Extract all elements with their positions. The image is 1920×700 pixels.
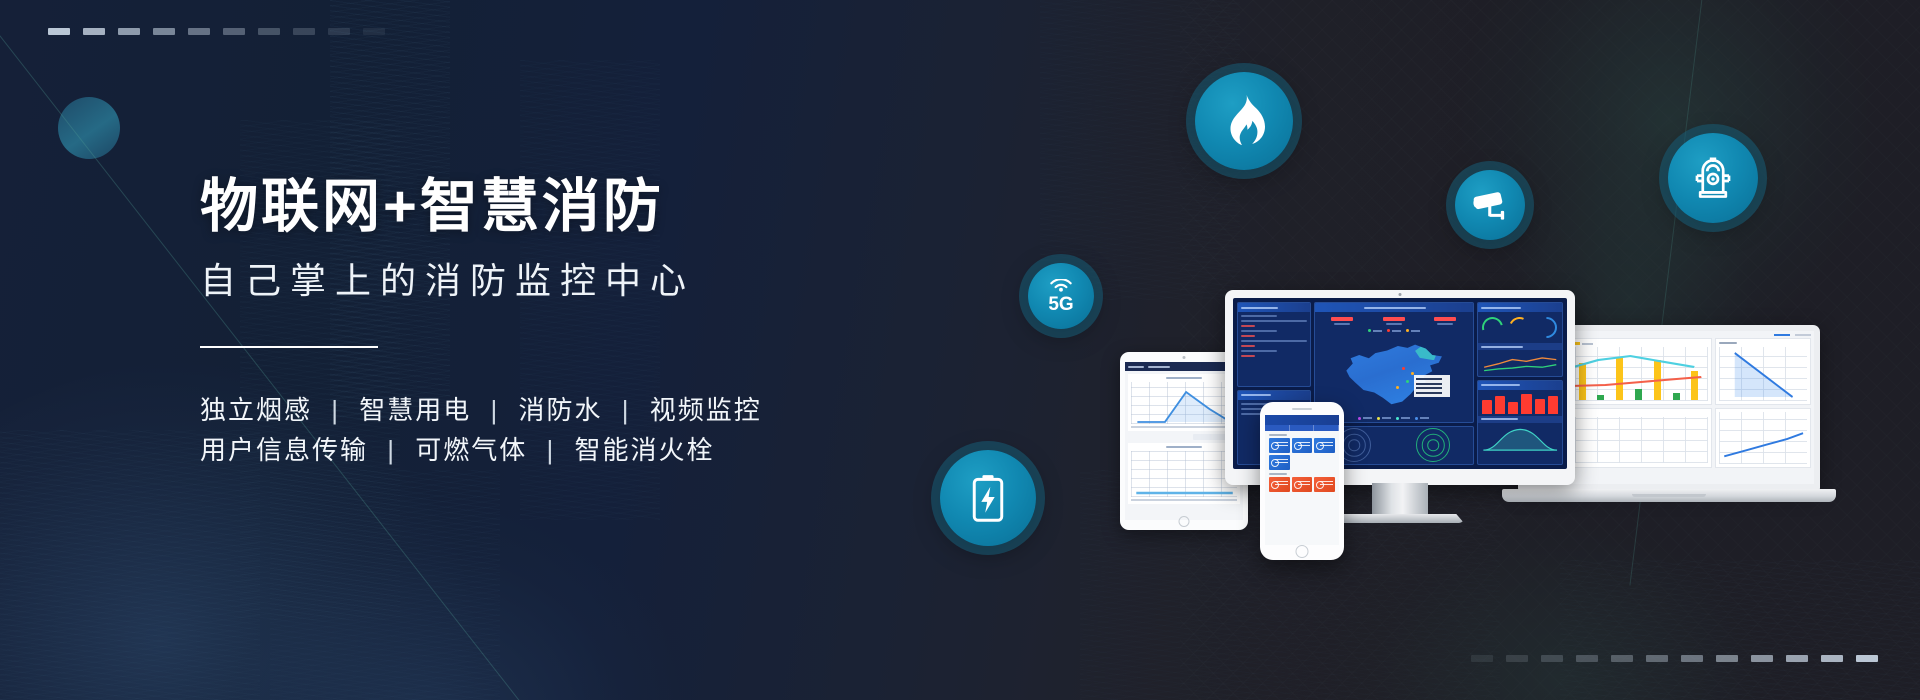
5g-label: 5G — [1048, 295, 1073, 314]
side-chart-card — [1715, 408, 1811, 468]
hydrant-icon-badge — [1668, 133, 1758, 223]
panel-header — [1478, 381, 1562, 390]
kpi-item — [1331, 317, 1353, 325]
page-title: 物联网+智慧消防 — [200, 175, 762, 239]
battery-icon-badge — [940, 450, 1036, 546]
gauge-panel — [1477, 302, 1563, 377]
gauge — [1532, 313, 1562, 343]
line-chart — [1131, 382, 1237, 424]
chart-axis — [1131, 426, 1237, 428]
area-chart-card — [1715, 338, 1811, 405]
feature-line: 独立烟感 | 智慧用电 | 消防水 | 视频监控 — [200, 390, 762, 430]
feature-item: 独立烟感 — [200, 395, 312, 425]
panel-header — [1238, 391, 1310, 400]
map-legend — [1315, 327, 1473, 334]
menu-tile[interactable] — [1314, 477, 1335, 492]
dash-row-top-left — [48, 28, 385, 35]
decorative-circle — [58, 97, 120, 159]
sub-header — [1478, 416, 1562, 423]
kpi-item — [1383, 317, 1405, 325]
feature-item: 智慧用电 — [359, 395, 471, 425]
page-subtitle: 自己掌上的消防监控中心 — [200, 259, 762, 302]
kpi-row — [1315, 312, 1473, 327]
chart-caption — [1166, 446, 1202, 448]
panel-header — [1238, 303, 1310, 312]
fire-hydrant-icon — [1691, 154, 1735, 202]
panel-header — [1478, 303, 1562, 312]
feature-list: 独立烟感 | 智慧用电 | 消防水 | 视频监控 用户信息传输 | 可燃气体 |… — [200, 390, 762, 471]
menu-tile[interactable] — [1269, 438, 1290, 453]
feature-separator: | — [321, 395, 350, 425]
kpi-item — [1434, 317, 1456, 325]
phone-section-orange — [1265, 470, 1339, 492]
tile-grid-orange — [1267, 477, 1337, 492]
phone-section-blue — [1265, 431, 1339, 470]
flame-icon-badge — [1195, 72, 1293, 170]
feature-separator: | — [537, 435, 566, 465]
tablet-chart-card — [1128, 374, 1240, 431]
phone-body — [1260, 402, 1344, 560]
security-camera-icon — [1472, 189, 1508, 221]
tablet-chart-card-2 — [1128, 443, 1240, 504]
menu-tile[interactable] — [1269, 477, 1290, 492]
hero-banner: 物联网+智慧消防 自己掌上的消防监控中心 独立烟感 | 智慧用电 | 消防水 |… — [0, 0, 1920, 700]
section-label — [1269, 473, 1287, 475]
feature-separator: | — [377, 435, 406, 465]
sub-header — [1478, 343, 1562, 350]
menu-tile[interactable] — [1314, 438, 1335, 453]
chart-caption — [1166, 377, 1202, 379]
flame-icon — [1221, 95, 1267, 147]
chart-axis — [1131, 499, 1237, 501]
hero-text-block: 物联网+智慧消防 自己掌上的消防监控中心 独立烟感 | 智慧用电 | 消防水 |… — [200, 175, 762, 471]
flat-line-chart — [1131, 451, 1237, 497]
gauge-row — [1478, 312, 1562, 343]
device-cluster — [1120, 280, 1880, 580]
gauge — [1506, 314, 1533, 341]
map-legend-box — [1414, 375, 1450, 397]
wave-texture — [270, 470, 500, 700]
blob-shape — [170, 490, 690, 700]
phone-navbar — [1265, 415, 1339, 425]
feature-item: 视频监控 — [650, 395, 762, 425]
feature-item: 智能消火栓 — [575, 435, 715, 465]
bell-curve-chart — [1478, 423, 1562, 453]
radar-widget-green — [1416, 428, 1450, 462]
feature-item: 可燃气体 — [415, 435, 527, 465]
feature-separator: | — [612, 395, 641, 425]
battery-bolt-icon — [970, 473, 1006, 523]
card-header — [1719, 342, 1807, 344]
smartphone-device — [1260, 402, 1344, 560]
menu-tile[interactable] — [1292, 477, 1313, 492]
5g-signal-icon: 5G — [1048, 279, 1074, 314]
bar-chart — [1478, 390, 1562, 416]
monitor-foot — [1336, 514, 1464, 523]
feature-separator: | — [481, 395, 510, 425]
tile-grid-blue — [1267, 438, 1337, 470]
dashboard-right-column — [1477, 302, 1563, 465]
panel-header — [1315, 303, 1473, 312]
monitor-neck — [1372, 483, 1428, 517]
phone-tabs[interactable] — [1265, 425, 1339, 431]
menu-tile[interactable] — [1269, 455, 1290, 470]
feature-item: 消防水 — [519, 395, 603, 425]
feature-line: 用户信息传输 | 可燃气体 | 智能消火栓 — [200, 430, 762, 470]
sparkline-chart — [1478, 350, 1562, 376]
feature-item: 用户信息传输 — [200, 435, 368, 465]
dash-row-bottom-right — [1471, 655, 1878, 662]
camera-icon-badge — [1455, 170, 1525, 240]
phone-screen — [1265, 415, 1339, 545]
alarm-list-panel — [1237, 302, 1311, 387]
section-label — [1269, 434, 1287, 436]
divider — [200, 346, 378, 348]
5g-icon-badge: 5G — [1028, 263, 1094, 329]
side-chart — [1719, 412, 1807, 464]
gauge — [1479, 313, 1508, 342]
menu-tile[interactable] — [1292, 438, 1313, 453]
area-chart — [1719, 347, 1807, 401]
bar-panel — [1477, 380, 1563, 465]
wave-texture — [1560, 560, 1920, 700]
alarm-rows — [1238, 312, 1310, 360]
